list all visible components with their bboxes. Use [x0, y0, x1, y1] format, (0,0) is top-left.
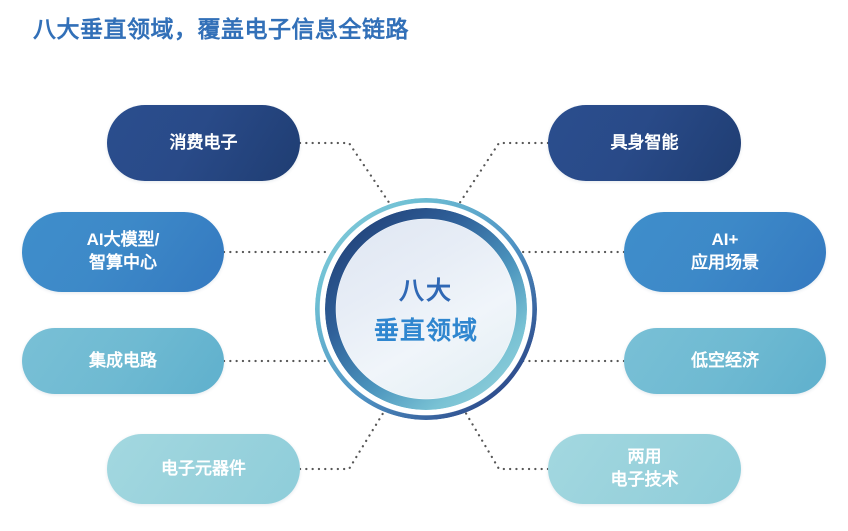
hub-label-line2: 垂直领域 [374, 311, 478, 347]
node-dual-use-electronics[interactable]: 两用 电子技术 [548, 434, 741, 504]
node-electronic-components[interactable]: 电子元器件 [107, 434, 300, 504]
node-low-altitude-economy[interactable]: 低空经济 [624, 328, 826, 394]
node-ai-large-model[interactable]: AI大模型/ 智算中心 [22, 212, 224, 292]
node-label-line2: 智算中心 [89, 252, 157, 275]
node-label-line1: AI大模型/ [87, 229, 160, 252]
node-label: 电子元器件 [161, 458, 246, 481]
node-label: 低空经济 [691, 350, 759, 373]
node-label-line2: 电子技术 [611, 469, 679, 492]
node-embodied-intelligence[interactable]: 具身智能 [548, 105, 741, 181]
eight-domains-diagram: 八大 垂直领域 消费电子 AI大模型/ 智算中心 集成电路 电子元器件 具身智能… [0, 0, 848, 531]
node-label: 具身智能 [611, 132, 679, 155]
hub-label-line1: 八大 [399, 271, 453, 307]
node-label-line1: AI+ [712, 229, 739, 252]
center-hub[interactable]: 八大 垂直领域 [315, 198, 537, 420]
node-label-line1: 两用 [628, 446, 662, 469]
node-label: 集成电路 [89, 350, 157, 373]
node-ai-plus-scenarios[interactable]: AI+ 应用场景 [624, 212, 826, 292]
hub-label: 八大 垂直领域 [336, 219, 516, 399]
node-label-line2: 应用场景 [691, 252, 759, 275]
node-label: 消费电子 [170, 132, 238, 155]
node-integrated-circuit[interactable]: 集成电路 [22, 328, 224, 394]
node-consumer-electronics[interactable]: 消费电子 [107, 105, 300, 181]
